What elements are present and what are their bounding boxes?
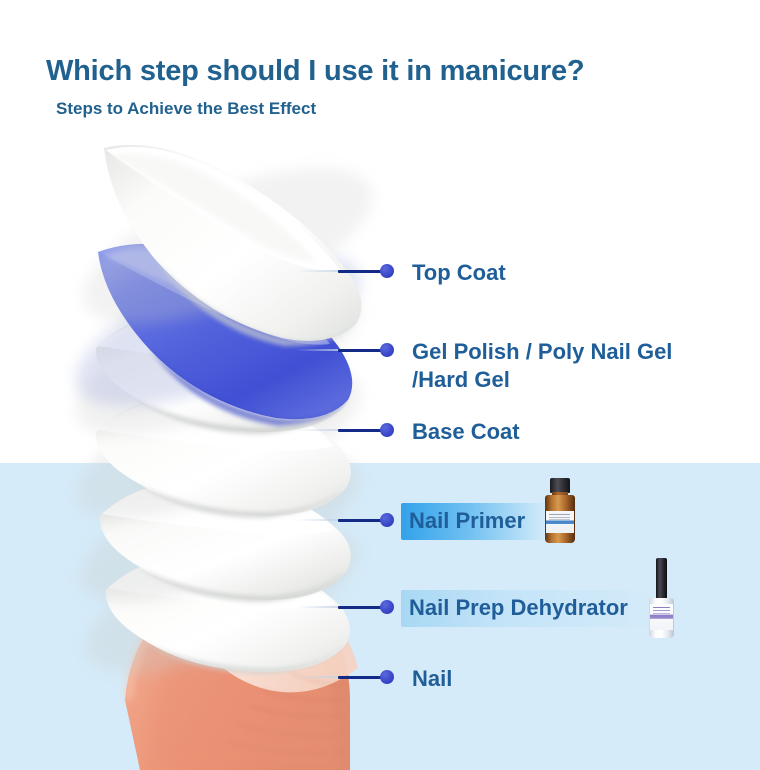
leader-dot [380,670,394,684]
bottle-label [546,511,574,533]
layer-label-base-coat: Base Coat [412,418,520,446]
leader-line-base-coat [296,423,396,437]
leader-solid-segment [338,270,384,273]
layer-label-top-coat: Top Coat [412,259,506,287]
nail-layer-stack-illustration [0,0,420,770]
layer-label-nail-primer: Nail Primer [401,503,547,540]
layer-label-gel-polish: Gel Polish / Poly Nail Gel /Hard Gel [412,338,672,394]
bottle-cap [550,478,570,493]
leader-dot [380,264,394,278]
leader-line-gel-polish [296,343,396,357]
product-bottle-nail-primer [544,478,576,544]
manicure-steps-infographic: Which step should I use it in manicure? … [0,0,760,770]
layer-label-nail-prep-dehydrator: Nail Prep Dehydrator [401,590,663,627]
leader-dot [380,513,394,527]
layer-label-nail: Nail [412,665,452,693]
leader-line-nail-prep-dehydrator [296,600,396,614]
bottle-label [650,604,673,630]
bottle-cap [656,558,667,602]
nail-layer-top-coat [64,136,392,355]
leader-dot [380,423,394,437]
leader-line-nail [296,670,396,684]
product-bottle-nail-prep-dehydrator [648,558,675,640]
leader-dot [380,343,394,357]
leader-solid-segment [338,676,384,679]
leader-solid-segment [338,606,384,609]
leader-solid-segment [338,349,384,352]
leader-dot [380,600,394,614]
leader-solid-segment [338,519,384,522]
leader-solid-segment [338,429,384,432]
leader-line-top-coat [296,264,396,278]
leader-line-nail-primer [296,513,396,527]
